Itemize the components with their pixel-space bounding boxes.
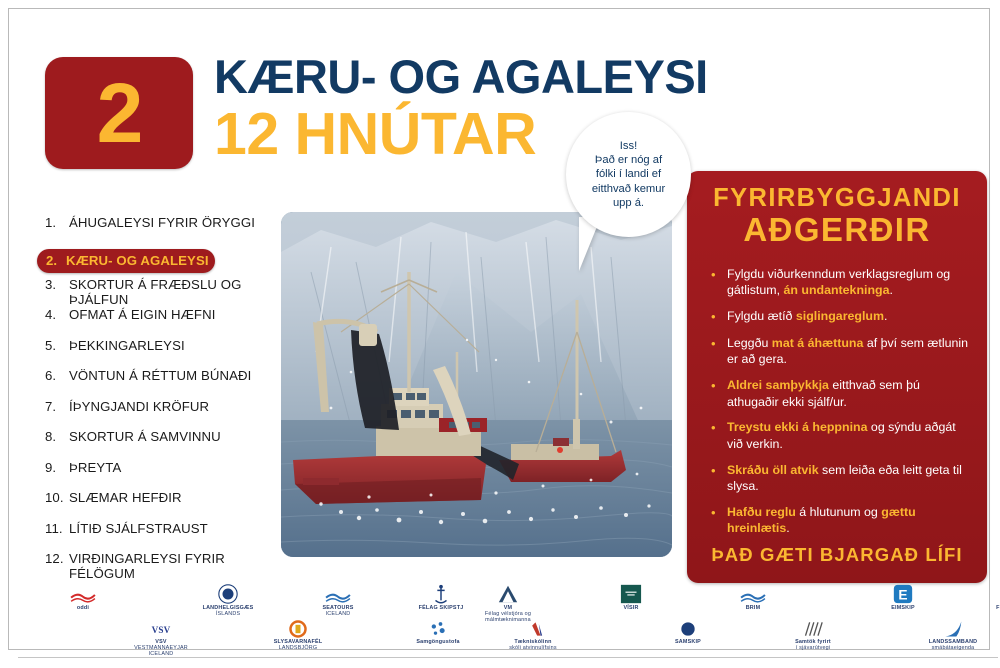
cause-item-number: 9. (45, 460, 69, 475)
sponsor-mark-icon (738, 583, 768, 605)
sponsor-mark-icon (518, 619, 548, 639)
cause-item-number: 4. (45, 307, 69, 322)
sponsor-mark-icon (323, 583, 353, 605)
sponsor-mark-icon (68, 583, 98, 605)
cause-item-6[interactable]: 6.VÖNTUN Á RÉTTUM BÚNAÐI (37, 368, 287, 399)
cause-item-number: 2. (46, 253, 66, 268)
measure-bullet-3: •Leggðu mat á áhættuna af því sem ætluni… (711, 335, 969, 368)
sponsor-subtitle: ÍSLANDS (216, 611, 240, 617)
poster-frame: 2 KÆRU- OG AGALEYSI 12 HNÚTAR 1.ÁHUGALEY… (8, 8, 990, 650)
cause-item-10[interactable]: 10.SLÆMAR HEFÐIR (37, 490, 287, 521)
cause-item-number: 3. (45, 277, 69, 292)
cause-item-4[interactable]: 4.OFMAT Á EIGIN HÆFNI (37, 307, 287, 338)
cause-item-label: SKORTUR Á SAMVINNU (69, 429, 221, 444)
sponsor-logo-14: FISKISTOFA (978, 583, 1000, 611)
sponsor-logo-13: SAMSKIP (653, 619, 723, 645)
sponsor-logo-bar: oddiLANDHELGISGÆSÍSLANDSSEATOURSICELANDF… (18, 581, 998, 658)
cause-item-8[interactable]: 8.SKORTUR Á SAMVINNU (37, 429, 287, 460)
sponsor-mark-icon (213, 583, 243, 605)
sponsor-name: EIMSKIP (868, 605, 938, 611)
sponsor-mark-icon (673, 619, 703, 639)
panel-heading-line2: AÐGERÐIR (703, 213, 971, 248)
sponsor-mark-icon: VSV (146, 619, 176, 639)
svg-text:E: E (898, 588, 907, 603)
cause-item-number: 10. (45, 490, 69, 505)
cause-item-label: VIRÐINGARLEYSI FYRIR FÉLÖGUM (69, 551, 287, 581)
sponsor-mark-icon (616, 583, 646, 605)
sponsor-mark-icon (423, 619, 453, 639)
title-primary: KÆRU- OG AGALEYSI (214, 53, 684, 101)
measure-bullet-1: •Fylgdu viðurkenndum verklagsreglum og g… (711, 266, 969, 299)
cause-item-2[interactable]: 2.KÆRU- OG AGALEYSI (37, 249, 215, 273)
cause-item-12[interactable]: 12.VIRÐINGARLEYSI FYRIR FÉLÖGUM (37, 551, 287, 582)
bullet-dot-icon: • (711, 419, 727, 452)
preventive-measures-panel: FYRIRBYGGJANDI AÐGERÐIR •Fylgdu viðurken… (687, 171, 987, 583)
cause-item-label: ÞEKKINGARLEYSI (69, 338, 185, 353)
speech-bubble: Iss! Það er nóg af fólki í landi ef eitt… (566, 112, 691, 237)
sponsor-logo-10: Tækniskólinnskóli atvinnulífsins (498, 619, 568, 651)
cause-item-number: 8. (45, 429, 69, 444)
bullet-dot-icon: • (711, 308, 727, 325)
sponsor-logo-15: Samtök fyrirtí sjávarútvegi (778, 619, 848, 651)
sponsor-mark-icon (283, 619, 313, 639)
sponsor-name: SAMSKIP (653, 639, 723, 645)
sponsor-mark-icon: E (888, 583, 918, 605)
sponsor-subtitle: ICELAND (326, 611, 351, 617)
sponsor-logo-5: SEATOURSICELAND (303, 583, 373, 617)
sponsor-name: Samgöngustofa (403, 639, 473, 645)
sponsor-logo-8: Samgöngustofa (403, 619, 473, 645)
cause-item-number: 5. (45, 338, 69, 353)
sponsor-logo-7: VMFélag vélstjóra og málmtæknimanna (473, 583, 543, 624)
sponsor-logo-9: VÍSIR (596, 583, 666, 611)
sponsor-name: BRIM (718, 605, 788, 611)
chapter-number-badge: 2 (45, 57, 193, 169)
cause-item-number: 1. (45, 215, 69, 230)
measure-bullet-text: Skráðu öll atvik sem leiða eða leitt get… (727, 462, 969, 495)
measure-bullet-text: Hafðu reglu á hlutunum og gættu hreinlæt… (727, 504, 969, 537)
cause-item-label: ÍÞYNGJANDI KRÖFUR (69, 399, 209, 414)
measures-bullet-list: •Fylgdu viðurkenndum verklagsreglum og g… (703, 266, 971, 537)
bullet-dot-icon: • (711, 266, 727, 299)
sponsor-logo-17: LANDSSAMBANDsmábátaeigenda (918, 619, 988, 651)
bullet-dot-icon: • (711, 504, 727, 537)
sponsor-subtitle: VESTMANNAEYJAR ICELAND (134, 645, 188, 657)
causes-list: 1.ÁHUGALEYSI FYRIR ÖRYGGI2.KÆRU- OG AGAL… (37, 215, 287, 582)
cause-item-label: SLÆMAR HEFÐIR (69, 490, 182, 505)
sponsor-logo-6: FÉLAG SKIPSTJ (406, 583, 476, 611)
sponsor-mark-icon (493, 583, 523, 605)
sponsor-logo-3: LANDHELGISGÆSÍSLANDS (193, 583, 263, 617)
measure-bullet-7: •Hafðu reglu á hlutunum og gættu hreinlæ… (711, 504, 969, 537)
panel-footer-slogan: ÞAÐ GÆTI BJARGAÐ LÍFI (687, 544, 987, 566)
cause-item-number: 6. (45, 368, 69, 383)
measure-bullet-text: Treystu ekki á heppnina og sýndu aðgát v… (727, 419, 969, 452)
bullet-dot-icon: • (711, 462, 727, 495)
vessel-photo-illustration (281, 212, 672, 557)
cause-item-label: VÖNTUN Á RÉTTUM BÚNAÐI (69, 368, 251, 383)
measure-bullet-5: •Treystu ekki á heppnina og sýndu aðgát … (711, 419, 969, 452)
measure-bullet-text: Fylgdu viðurkenndum verklagsreglum og gá… (727, 266, 969, 299)
sponsor-subtitle: smábátaeigenda (932, 645, 975, 651)
cause-item-7[interactable]: 7.ÍÞYNGJANDI KRÖFUR (37, 399, 287, 430)
sponsor-logo-1: oddi (48, 583, 118, 611)
sponsor-mark-icon (426, 583, 456, 605)
sponsor-logo-12: EEIMSKIP (868, 583, 938, 611)
cause-item-label: KÆRU- OG AGALEYSI (66, 253, 209, 268)
sponsor-name: oddi (48, 605, 118, 611)
cause-item-label: ÁHUGALEYSI FYRIR ÖRYGGI (69, 215, 255, 230)
bullet-dot-icon: • (711, 377, 727, 410)
measure-bullet-4: •Aldrei samþykkja eitthvað sem þú athuga… (711, 377, 969, 410)
measure-bullet-text: Aldrei samþykkja eitthvað sem þú athugað… (727, 377, 969, 410)
cause-item-label: SKORTUR Á FRÆÐSLU OG ÞJÁLFUN (69, 277, 287, 307)
measure-bullet-text: Fylgdu ætíð siglingareglum. (727, 308, 887, 325)
cause-item-9[interactable]: 9.ÞREYTA (37, 460, 287, 491)
sponsor-subtitle: LANDSBJÖRG (279, 645, 318, 651)
sponsor-logo-2: VSVVSVVESTMANNAEYJAR ICELAND (126, 619, 196, 658)
cause-item-3[interactable]: 3.SKORTUR Á FRÆÐSLU OG ÞJÁLFUN (37, 277, 287, 308)
cause-item-number: 12. (45, 551, 69, 566)
cause-item-number: 11. (45, 521, 69, 536)
safety-poster: 2 KÆRU- OG AGALEYSI 12 HNÚTAR 1.ÁHUGALEY… (0, 0, 1000, 668)
sponsor-logo-4: SLYSAVARNAFÉLLANDSBJÖRG (263, 619, 333, 651)
panel-heading-line1: FYRIRBYGGJANDI (703, 185, 971, 212)
sponsor-subtitle: skóli atvinnulífsins (509, 645, 556, 651)
cause-item-1[interactable]: 1.ÁHUGALEYSI FYRIR ÖRYGGI (37, 215, 287, 246)
cause-item-number: 7. (45, 399, 69, 414)
bullet-dot-icon: • (711, 335, 727, 368)
cause-item-11[interactable]: 11.LÍTIÐ SJÁLFSTRAUST (37, 521, 287, 552)
sponsor-name: FISKISTOFA (978, 605, 1000, 611)
sponsor-name: VÍSIR (596, 605, 666, 611)
measure-bullet-6: •Skráðu öll atvik sem leiða eða leitt ge… (711, 462, 969, 495)
cause-item-5[interactable]: 5.ÞEKKINGARLEYSI (37, 338, 287, 369)
vessel-photo (281, 212, 672, 557)
sponsor-mark-icon (798, 619, 828, 639)
cause-item-label: ÞREYTA (69, 460, 121, 475)
sponsor-mark-icon (938, 619, 968, 639)
sponsor-logo-11: BRIM (718, 583, 788, 611)
speech-bubble-text: Iss! Það er nóg af fólki í landi ef eitt… (583, 139, 674, 211)
sponsor-subtitle: í sjávarútvegi (796, 645, 831, 651)
measure-bullet-2: •Fylgdu ætíð siglingareglum. (711, 308, 969, 325)
svg-text:VSV: VSV (152, 625, 171, 635)
measure-bullet-text: Leggðu mat á áhættuna af því sem ætlunin… (727, 335, 969, 368)
sponsor-name: FÉLAG SKIPSTJ (406, 605, 476, 611)
chapter-number: 2 (97, 71, 142, 155)
cause-item-label: OFMAT Á EIGIN HÆFNI (69, 307, 215, 322)
cause-item-label: LÍTIÐ SJÁLFSTRAUST (69, 521, 208, 536)
